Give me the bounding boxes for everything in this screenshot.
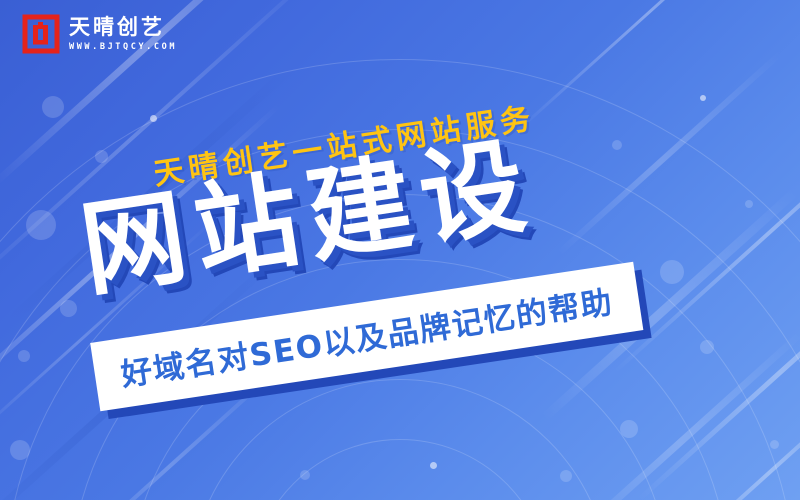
bokeh-dot <box>770 440 779 449</box>
bokeh-dot <box>560 470 572 482</box>
company-square-mark-icon <box>22 14 60 54</box>
bokeh-dot <box>150 115 157 122</box>
brand-logo[interactable]: 天晴创艺 WWW.BJTQCY.COM <box>22 14 177 54</box>
brand-website-url: WWW.BJTQCY.COM <box>69 43 177 52</box>
bokeh-dot <box>42 96 64 118</box>
subtitle-text: 好域名对SEO以及品牌记忆的帮助 <box>119 284 616 393</box>
brand-logo-text: 天晴创艺 WWW.BJTQCY.COM <box>69 17 177 52</box>
page-title: 网站建设 <box>75 132 541 302</box>
light-streak <box>672 384 800 500</box>
arc-ring <box>249 439 551 500</box>
bokeh-dot <box>18 350 30 362</box>
bokeh-dot <box>10 440 30 460</box>
headline-group: 天晴创艺一站式网站服务 网站建设 好域名对SEO以及品牌记忆的帮助 <box>37 47 765 456</box>
bokeh-dot <box>430 462 437 469</box>
brand-name-cn: 天晴创艺 <box>69 17 177 38</box>
bokeh-dot <box>745 200 753 208</box>
bokeh-dot <box>300 470 310 480</box>
promo-banner: 天晴创艺 WWW.BJTQCY.COM 天晴创艺一站式网站服务 网站建设 好域名… <box>0 0 800 500</box>
bokeh-dot <box>620 420 638 438</box>
main-title-wrap: 网站建设 <box>75 132 541 302</box>
